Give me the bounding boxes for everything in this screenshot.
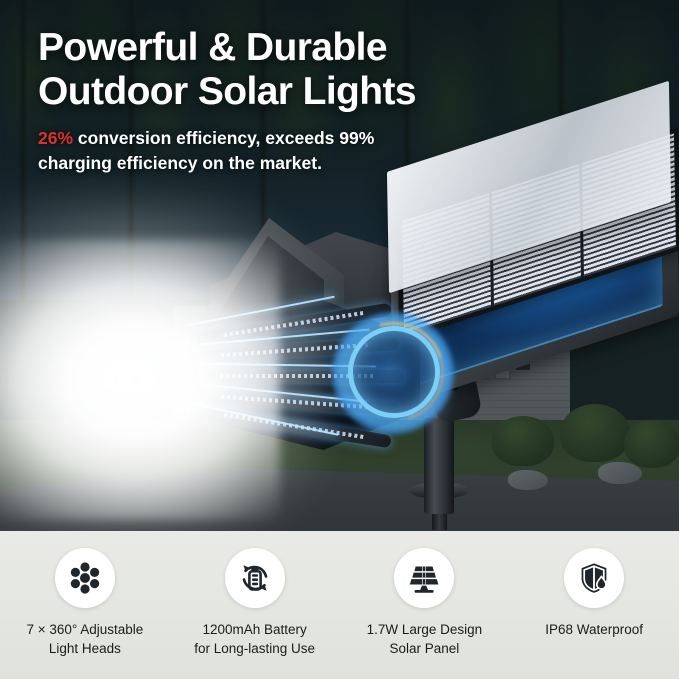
feature-item-light-heads: 7 × 360° Adjustable Light Heads — [0, 531, 170, 679]
feature-item-solar-panel: 1.7W Large Design Solar Panel — [340, 531, 510, 679]
efficiency-percent: 26% — [38, 128, 73, 148]
headline-block: Powerful & Durable Outdoor Solar Lights … — [38, 26, 468, 176]
feature-label: 7 × 360° Adjustable Light Heads — [26, 620, 143, 658]
product-marketing-image: Powerful & Durable Outdoor Solar Lights … — [0, 0, 679, 679]
subheadline: 26% conversion efficiency, exceeds 99% c… — [38, 126, 468, 176]
feature-item-battery: 1200mAh Battery for Long-lasting Use — [170, 531, 340, 679]
subheadline-line-2: charging efficiency on the market. — [38, 153, 322, 173]
solar-panel-icon — [394, 548, 454, 608]
feature-item-waterproof: IP68 Waterproof — [509, 531, 679, 679]
subheadline-line-1: conversion efficiency, exceeds 99% — [73, 128, 374, 148]
feature-label: 1200mAh Battery for Long-lasting Use — [194, 620, 315, 658]
battery-recharge-icon — [225, 548, 285, 608]
feature-label: 1.7W Large Design Solar Panel — [367, 620, 483, 658]
seven-led-heads-icon — [55, 548, 115, 608]
tech-ring-core — [348, 326, 440, 418]
mounting-pole — [424, 418, 454, 514]
feature-bar: 7 × 360° Adjustable Light Heads — [0, 531, 679, 679]
light-beam-bloom — [0, 240, 280, 520]
waterproof-shield-icon — [564, 548, 624, 608]
headline-line-1: Powerful & Durable — [38, 26, 468, 70]
headline-line-2: Outdoor Solar Lights — [38, 70, 468, 114]
feature-label: IP68 Waterproof — [545, 620, 643, 639]
